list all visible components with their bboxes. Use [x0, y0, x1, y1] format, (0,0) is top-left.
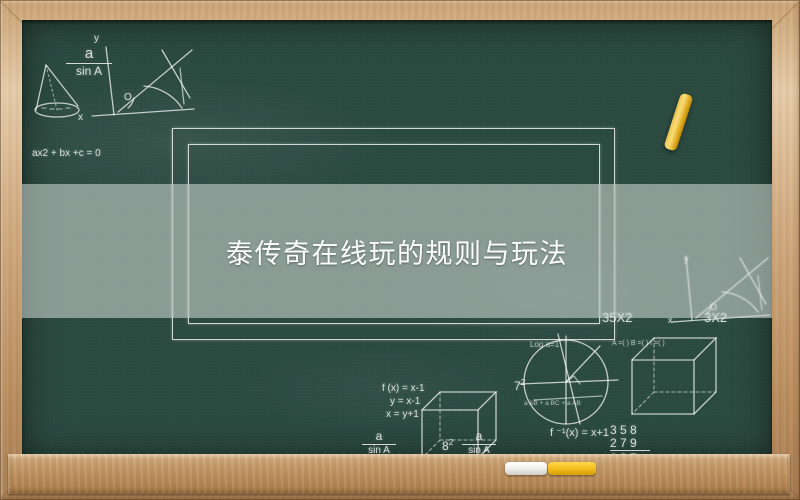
fraction-numerator: a [66, 46, 112, 62]
subtraction-minuend: 3 5 8 [610, 424, 650, 437]
fraction-denominator: sin A [66, 65, 112, 78]
chalkboard-screenshot: y x O a sin A ax2 + bx +c = 0 y x O f (x… [0, 0, 800, 500]
exponent-eight: 82 [442, 438, 453, 453]
fraction-a-sin-a-bottomcenter: a sin A [462, 430, 496, 456]
fraction-a-sin-a-topleft: a sin A [66, 46, 112, 77]
chalkboard-surface: y x O a sin A ax2 + bx +c = 0 y x O f (x… [22, 20, 772, 458]
exponent-seven: 72 [514, 378, 525, 393]
inverse-function-note: f ⁻¹(x) = x+1 [550, 426, 609, 439]
triangle-note: a AB + a BC + a AB [524, 400, 581, 407]
ledge-wood-grain [8, 454, 790, 494]
matrix-note: A =( ) B =( ) I =( ) [612, 340, 665, 347]
quadratic-equation: ax2 + bx +c = 0 [32, 148, 101, 159]
log-note: Log a=1 [530, 340, 559, 349]
fraction-numerator: a [462, 430, 496, 443]
fraction-numerator: a [362, 430, 396, 443]
function-line-2: y = x-1 [390, 396, 420, 407]
axis-label-x-left: x [78, 112, 83, 123]
fraction-a-sin-a-bottomleft: a sin A [362, 430, 396, 456]
white-chalk-icon [505, 462, 547, 475]
yellow-chalk-icon [548, 462, 596, 475]
axis-label-y-left: y [94, 33, 99, 44]
angle-label-left: O [124, 92, 132, 103]
function-line-3: x = y+1 [386, 409, 419, 420]
subtraction-subtrahend: 2 7 9 [610, 437, 650, 450]
subtraction-problem: 3 5 8 2 7 9 6 3 7 [610, 424, 650, 458]
page-title: 泰传奇在线玩的规则与玩法 [22, 184, 772, 318]
chalk-ledge [8, 454, 790, 494]
function-line-1: f (x) = x-1 [382, 383, 425, 394]
